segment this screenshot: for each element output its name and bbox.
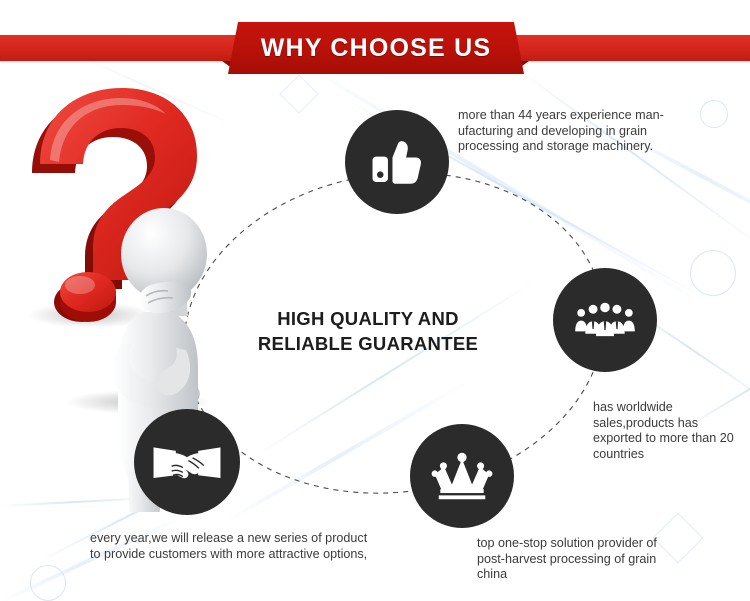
feature-circle-quality[interactable] xyxy=(410,424,514,528)
feature-text-worldwide: has worldwide sales,products has exporte… xyxy=(593,400,745,462)
feature-text-quality: top one-stop solution provider of post-h… xyxy=(477,536,667,583)
why-choose-us-infographic: WHY CHOOSE US xyxy=(0,0,750,601)
headline: HIGH QUALITY AND RELIABLE GUARANTEE xyxy=(250,306,486,356)
question-mark-dot xyxy=(54,272,116,322)
people-group-icon xyxy=(574,299,636,341)
handshake-icon xyxy=(152,439,222,485)
feature-circle-newseries[interactable] xyxy=(134,409,240,515)
feature-circle-worldwide[interactable] xyxy=(553,268,657,372)
feature-text-experience: more than 44 years experience man-ufactu… xyxy=(458,108,676,155)
thumbs-up-icon xyxy=(368,133,426,191)
feature-circle-experience[interactable] xyxy=(345,110,449,214)
crown-icon xyxy=(431,450,493,502)
headline-line-2: RELIABLE GUARANTEE xyxy=(250,331,486,356)
feature-text-newseries: every year,we will release a new series … xyxy=(90,531,380,562)
headline-line-1: HIGH QUALITY AND xyxy=(250,306,486,331)
